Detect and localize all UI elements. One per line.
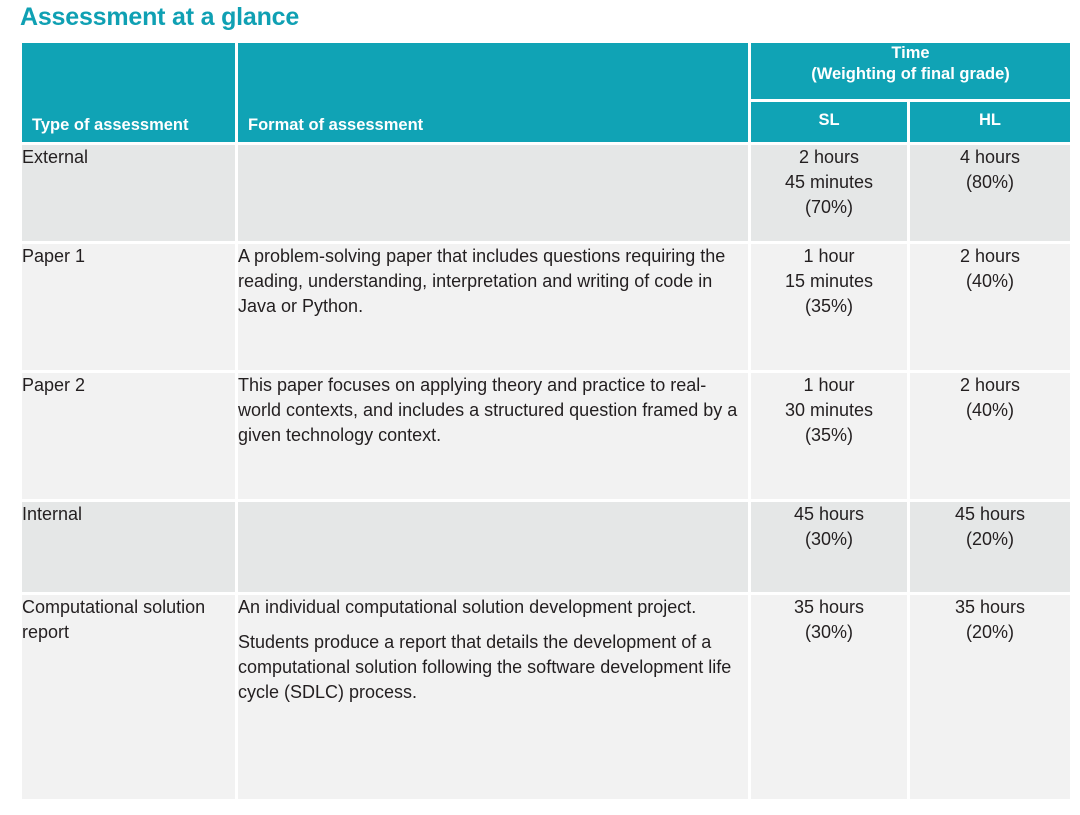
header-time-label: Time — [751, 43, 1070, 64]
time-line: (30%) — [751, 527, 907, 552]
time-line: 4 hours — [910, 145, 1070, 170]
time-line: 2 hours — [910, 244, 1070, 269]
header-row-primary: Type of assessment Format of assessment … — [22, 43, 1070, 102]
assessment-table-wrapper: Type of assessment Format of assessment … — [22, 43, 1070, 802]
table-row: Internal45 hours(30%)45 hours(20%) — [22, 502, 1070, 595]
cell-type-of-assessment: Paper 1 — [22, 244, 238, 373]
format-paragraph: Students produce a report that details t… — [238, 630, 748, 705]
time-line: 35 hours — [751, 595, 907, 620]
page-title: Assessment at a glance — [20, 2, 299, 32]
cell-type-of-assessment: Internal — [22, 502, 238, 595]
cell-type-of-assessment: Paper 2 — [22, 373, 238, 502]
cell-format-of-assessment — [238, 502, 751, 595]
header-type-of-assessment-label: Type of assessment — [32, 116, 189, 135]
time-line: (35%) — [751, 423, 907, 448]
cell-format-of-assessment: A problem-solving paper that includes qu… — [238, 244, 751, 373]
time-line: (40%) — [910, 269, 1070, 294]
cell-time-hl: 45 hours(20%) — [910, 502, 1070, 595]
time-line: (20%) — [910, 527, 1070, 552]
time-line: (70%) — [751, 195, 907, 220]
time-line: 1 hour — [751, 244, 907, 269]
table-row: Paper 1A problem-solving paper that incl… — [22, 244, 1070, 373]
time-line: 2 hours — [910, 373, 1070, 398]
cell-format-of-assessment: An individual computational solution dev… — [238, 595, 751, 802]
header-sl: SL — [751, 102, 910, 145]
table-row: Paper 2This paper focuses on applying th… — [22, 373, 1070, 502]
table-header: Type of assessment Format of assessment … — [22, 43, 1070, 145]
time-line: 35 hours — [910, 595, 1070, 620]
time-line: (40%) — [910, 398, 1070, 423]
time-line: (80%) — [910, 170, 1070, 195]
time-line: 45 minutes — [751, 170, 907, 195]
cell-time-sl: 1 hour15 minutes(35%) — [751, 244, 910, 373]
header-format-of-assessment: Format of assessment — [238, 43, 751, 145]
time-line: 30 minutes — [751, 398, 907, 423]
format-paragraph: An individual computational solution dev… — [238, 595, 748, 620]
time-line: 15 minutes — [751, 269, 907, 294]
table-row: External2 hours45 minutes(70%)4 hours(80… — [22, 145, 1070, 244]
cell-time-hl: 4 hours(80%) — [910, 145, 1070, 244]
header-weighting-label: (Weighting of final grade) — [751, 64, 1070, 85]
cell-type-of-assessment: External — [22, 145, 238, 244]
cell-time-hl: 2 hours(40%) — [910, 373, 1070, 502]
format-paragraph: A problem-solving paper that includes qu… — [238, 244, 748, 319]
cell-time-sl: 45 hours(30%) — [751, 502, 910, 595]
header-format-of-assessment-label: Format of assessment — [248, 116, 423, 135]
time-line: 1 hour — [751, 373, 907, 398]
header-time-weighting: Time (Weighting of final grade) — [751, 43, 1070, 102]
header-type-of-assessment: Type of assessment — [22, 43, 238, 145]
time-line: 2 hours — [751, 145, 907, 170]
time-line: 45 hours — [910, 502, 1070, 527]
time-line: (30%) — [751, 620, 907, 645]
assessment-at-a-glance-page: Assessment at a glance Type of assessmen… — [0, 0, 1080, 815]
cell-type-of-assessment: Computational solution report — [22, 595, 238, 802]
time-line: (20%) — [910, 620, 1070, 645]
assessment-table: Type of assessment Format of assessment … — [22, 43, 1070, 802]
format-paragraph: This paper focuses on applying theory an… — [238, 373, 748, 448]
cell-format-of-assessment — [238, 145, 751, 244]
table-row: Computational solution reportAn individu… — [22, 595, 1070, 802]
time-line: (35%) — [751, 294, 907, 319]
cell-time-hl: 2 hours(40%) — [910, 244, 1070, 373]
cell-format-of-assessment: This paper focuses on applying theory an… — [238, 373, 751, 502]
header-hl: HL — [910, 102, 1070, 145]
time-line: 45 hours — [751, 502, 907, 527]
cell-time-sl: 1 hour30 minutes(35%) — [751, 373, 910, 502]
cell-time-sl: 2 hours45 minutes(70%) — [751, 145, 910, 244]
table-body: External2 hours45 minutes(70%)4 hours(80… — [22, 145, 1070, 802]
cell-time-sl: 35 hours(30%) — [751, 595, 910, 802]
cell-time-hl: 35 hours(20%) — [910, 595, 1070, 802]
